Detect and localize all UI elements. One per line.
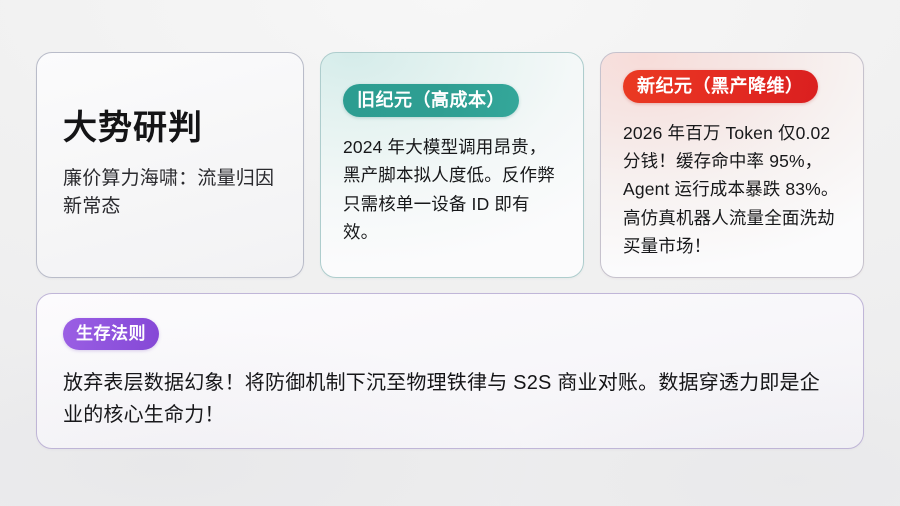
verdict-title: 大势研判 xyxy=(63,108,281,149)
new-era-badge: 新纪元（黑产降维） xyxy=(623,70,818,103)
top-card-row: 大势研判 廉价算力海啸：流量归因新常态 旧纪元（高成本） 2024 年大模型调用… xyxy=(36,52,864,278)
survival-badge: 生存法则 xyxy=(63,318,159,350)
card-new-era: 新纪元（黑产降维） 2026 年百万 Token 仅0.02 分钱！缓存命中率 … xyxy=(600,52,864,278)
slide-canvas: 大势研判 廉价算力海啸：流量归因新常态 旧纪元（高成本） 2024 年大模型调用… xyxy=(0,0,900,506)
card-old-era: 旧纪元（高成本） 2024 年大模型调用昂贵，黑产脚本拟人度低。反作弊只需核单一… xyxy=(320,52,584,278)
verdict-subtitle: 廉价算力海啸：流量归因新常态 xyxy=(63,165,281,223)
survival-banner: 生存法则 放弃表层数据幻象！将防御机制下沉至物理铁律与 S2S 商业对账。数据穿… xyxy=(36,293,864,449)
old-era-body: 2024 年大模型调用昂贵，黑产脚本拟人度低。反作弊只需核单一设备 ID 即有效… xyxy=(343,133,561,246)
card-verdict: 大势研判 廉价算力海啸：流量归因新常态 xyxy=(36,52,304,278)
new-era-body: 2026 年百万 Token 仅0.02 分钱！缓存命中率 95%，Agent … xyxy=(623,119,841,261)
old-era-badge: 旧纪元（高成本） xyxy=(343,84,519,117)
survival-body: 放弃表层数据幻象！将防御机制下沉至物理铁律与 S2S 商业对账。数据穿透力即是企… xyxy=(63,367,837,432)
